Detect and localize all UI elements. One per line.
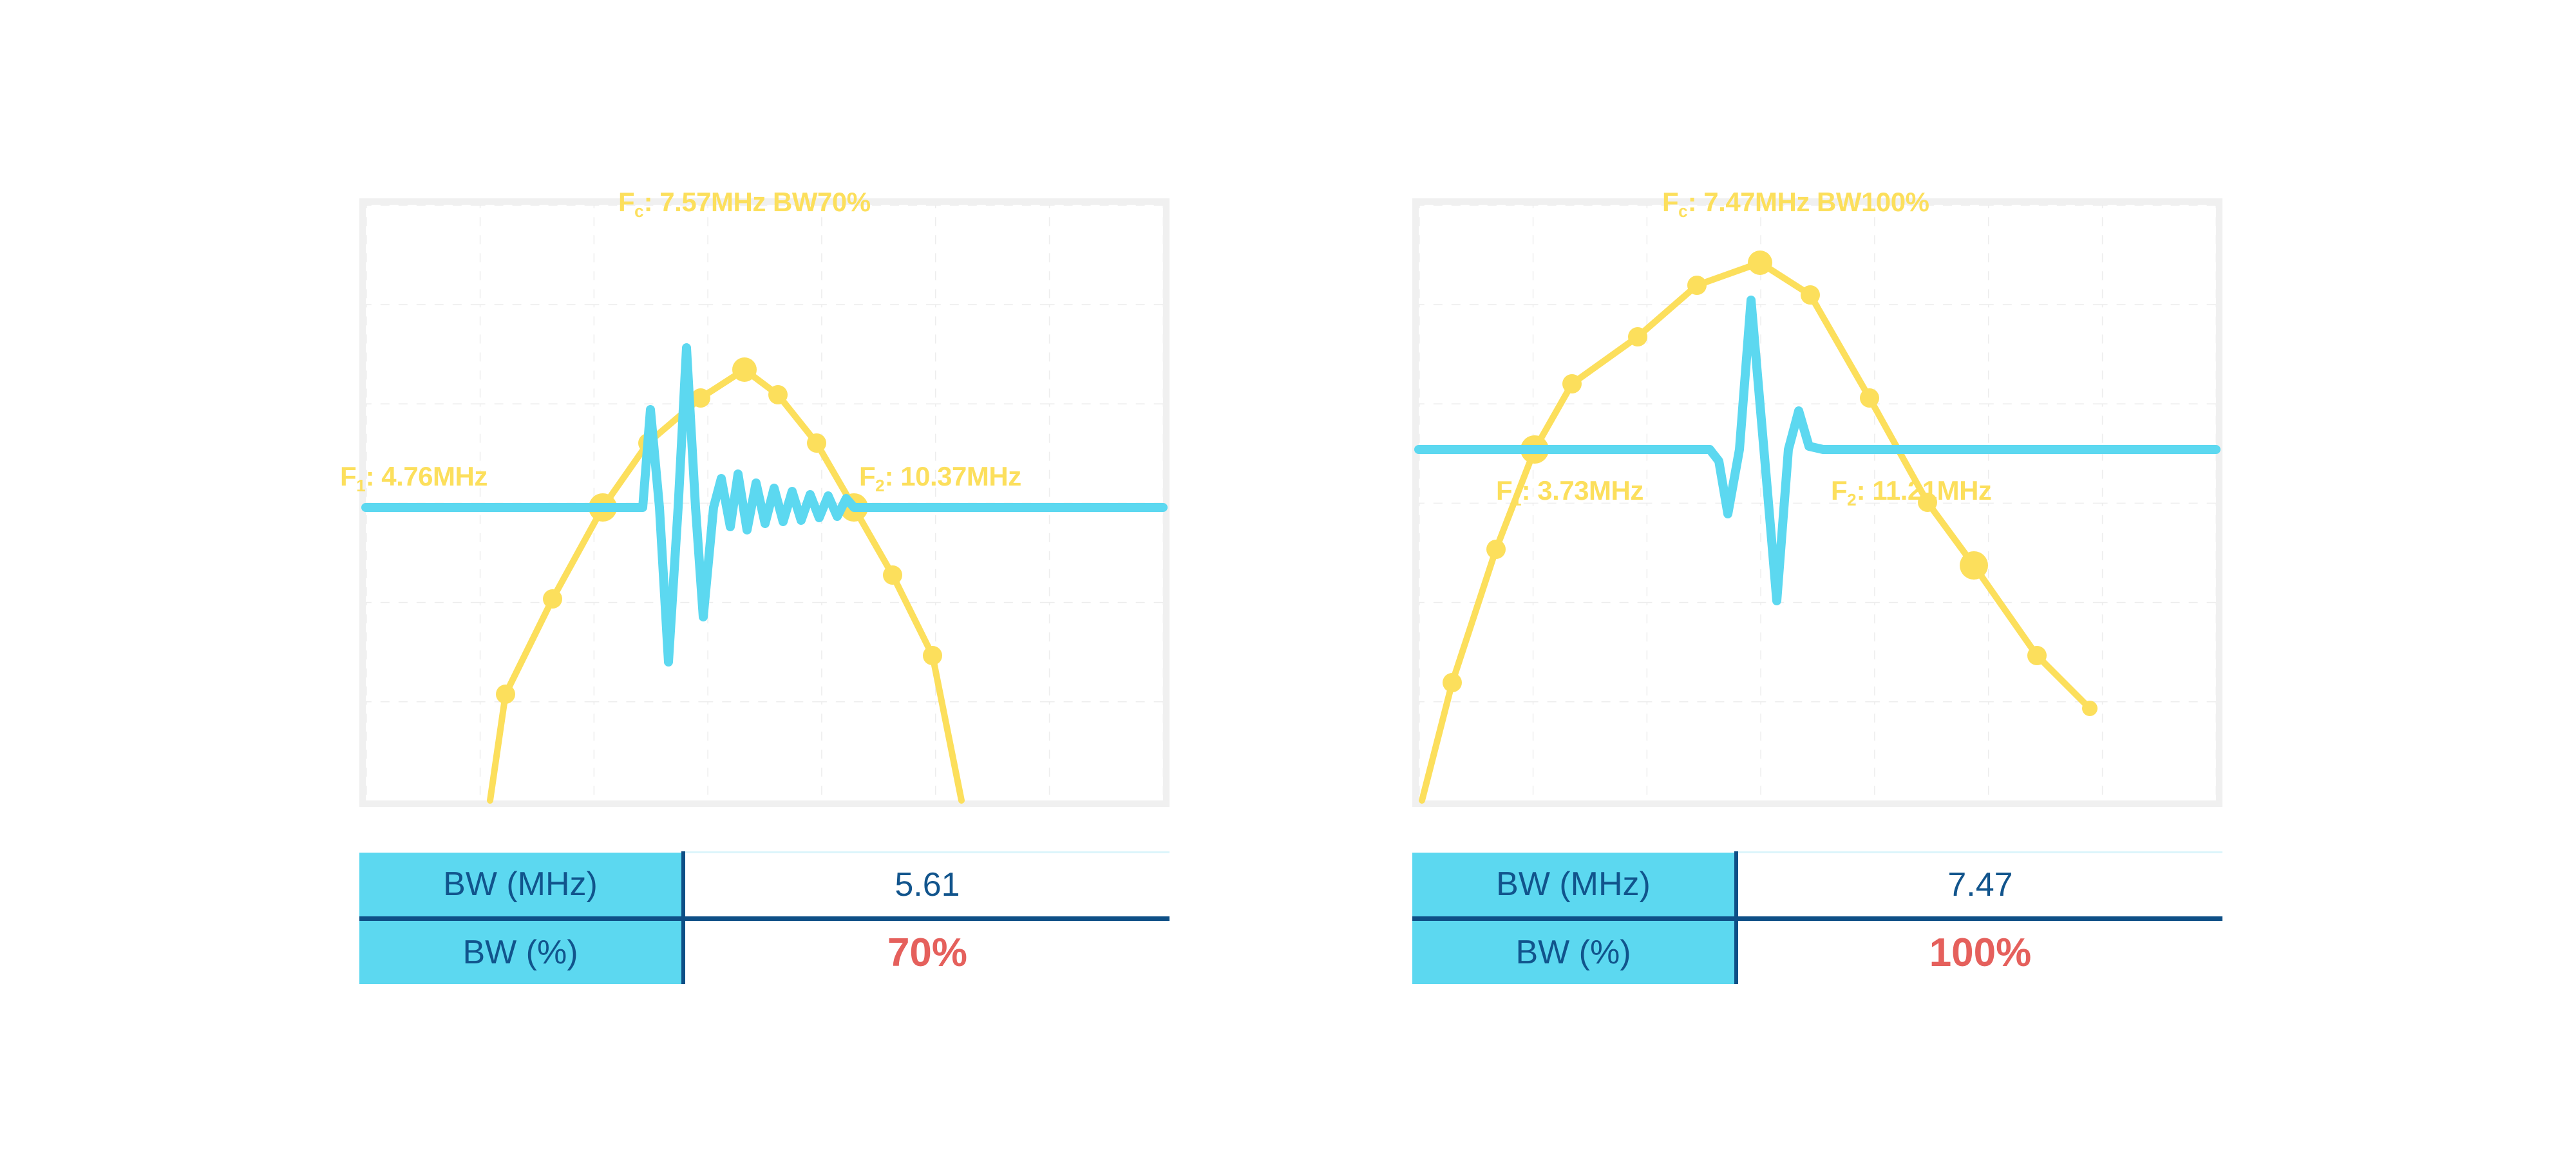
- f1-subscript: 1: [356, 476, 365, 495]
- bandwidth-table-right: BW (MHz) 7.47 BW (%) 100%: [1412, 851, 2222, 984]
- bw-pct-label: BW (%): [359, 919, 683, 985]
- f1-subscript: 1: [1512, 490, 1521, 509]
- f1-value: : 3.73MHz: [1522, 475, 1643, 506]
- fc-prefix: F: [618, 187, 634, 217]
- bw-mhz-value: 5.61: [683, 853, 1170, 919]
- fc-prefix: F: [1662, 187, 1678, 217]
- measurement-panel-right: Fc: 7.47MHz BW100% F1: 3.73MHz F2: 11.21…: [1362, 0, 2457, 1154]
- f2-subscript: 2: [1847, 490, 1856, 509]
- f2-value: : 10.37MHz: [885, 461, 1021, 491]
- f2-prefix: F: [859, 461, 875, 491]
- table-row: BW (%) 70%: [359, 919, 1170, 985]
- chart-frame-left: Fc: 7.57MHz BW70% F1: 4.76MHz F2: 10.37M…: [359, 198, 1170, 807]
- table-row: BW (MHz) 7.47: [1412, 853, 2222, 919]
- table-row: BW (MHz) 5.61: [359, 853, 1170, 919]
- bw-pct-value: 100%: [1736, 919, 2222, 985]
- screenshot-root: Fc: 7.57MHz BW70% F1: 4.76MHz F2: 10.37M…: [0, 0, 2576, 1154]
- chart-plot-area-right: Fc: 7.47MHz BW100% F1: 3.73MHz F2: 11.21…: [1419, 205, 2216, 800]
- bandwidth-table-left: BW (MHz) 5.61 BW (%) 70%: [359, 851, 1170, 984]
- chart-frame-right: Fc: 7.47MHz BW100% F1: 3.73MHz F2: 11.21…: [1412, 198, 2222, 807]
- chart-plot-area-left: Fc: 7.57MHz BW70% F1: 4.76MHz F2: 10.37M…: [366, 205, 1163, 800]
- bw-mhz-value: 7.47: [1736, 853, 2222, 919]
- fc-value: : 7.47MHz BW100%: [1688, 187, 1929, 217]
- f2-value: : 11.21MHz: [1857, 475, 1992, 506]
- lower-cutoff-label-right: F1: 3.73MHz: [1496, 475, 1643, 506]
- f1-value: : 4.76MHz: [366, 461, 488, 491]
- center-frequency-label-left: Fc: 7.57MHz BW70%: [618, 187, 871, 218]
- bw-pct-label: BW (%): [1412, 919, 1736, 985]
- f2-prefix: F: [1831, 475, 1847, 506]
- fc-value: : 7.57MHz BW70%: [644, 187, 871, 217]
- bw-mhz-label: BW (MHz): [359, 853, 683, 919]
- f1-prefix: F: [1496, 475, 1512, 506]
- upper-cutoff-label-right: F2: 11.21MHz: [1831, 475, 1991, 506]
- chart-svg-left: [366, 205, 1163, 800]
- measurement-panel-left: Fc: 7.57MHz BW70% F1: 4.76MHz F2: 10.37M…: [309, 0, 1404, 1154]
- bw-pct-value: 70%: [683, 919, 1170, 985]
- f1-prefix: F: [340, 461, 356, 491]
- bw-mhz-label: BW (MHz): [1412, 853, 1736, 919]
- lower-cutoff-label-left: F1: 4.76MHz: [340, 461, 488, 492]
- f2-subscript: 2: [875, 476, 884, 495]
- center-frequency-label-right: Fc: 7.47MHz BW100%: [1662, 187, 1929, 218]
- upper-cutoff-label-left: F2: 10.37MHz: [859, 461, 1021, 492]
- fc-subscript: c: [634, 202, 643, 221]
- fc-subscript: c: [1678, 202, 1687, 221]
- table-row: BW (%) 100%: [1412, 919, 2222, 985]
